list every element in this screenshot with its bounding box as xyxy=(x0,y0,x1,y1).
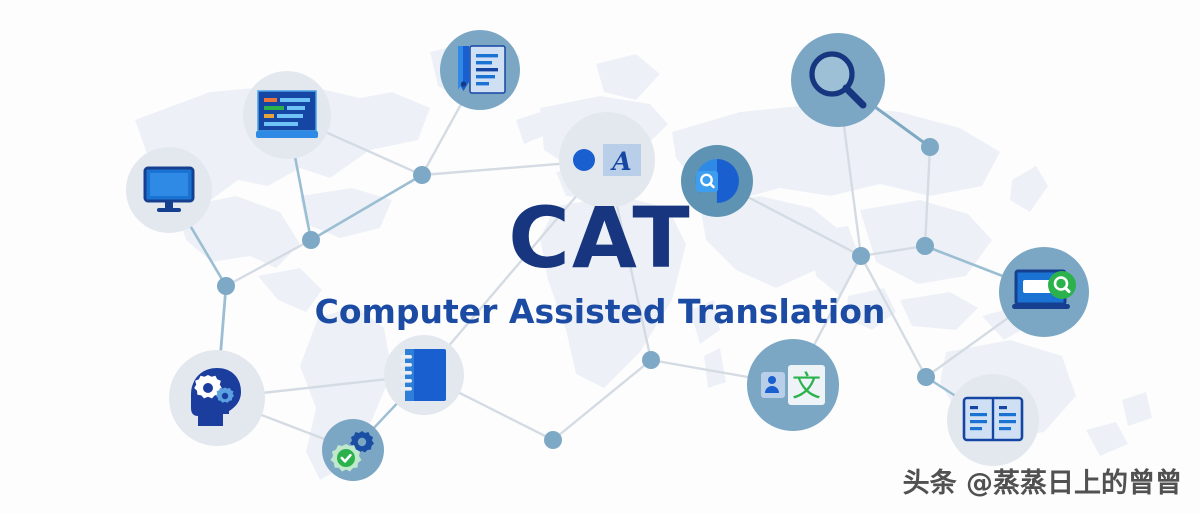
code-window-glyph xyxy=(256,89,318,141)
gears-check-glyph xyxy=(327,424,379,476)
network-node xyxy=(413,166,431,184)
monitor-icon[interactable] xyxy=(126,147,212,233)
magnifier-icon[interactable] xyxy=(791,33,885,127)
network-node xyxy=(921,138,939,156)
laptop-search-icon[interactable] xyxy=(999,247,1089,337)
network-node xyxy=(642,351,660,369)
network-node xyxy=(916,237,934,255)
svg-text:文: 文 xyxy=(792,369,821,403)
brain-gears-icon[interactable] xyxy=(169,350,265,446)
notebook-glyph xyxy=(399,347,449,403)
network-node xyxy=(917,368,935,386)
notebook-icon[interactable] xyxy=(384,335,464,415)
translate-glyph: 文 xyxy=(759,363,827,407)
monitor-glyph xyxy=(141,164,197,216)
document-pen-glyph xyxy=(452,43,508,97)
watermark-text: 头条 @蒸蒸日上的曾曾 xyxy=(903,461,1182,500)
code-window-icon[interactable] xyxy=(243,71,331,159)
open-book-icon[interactable] xyxy=(947,374,1039,466)
network-node xyxy=(217,277,235,295)
text-select-a-icon[interactable]: A xyxy=(559,112,655,208)
brain-gears-glyph xyxy=(183,364,251,432)
network-node xyxy=(544,431,562,449)
magnifier-glyph xyxy=(805,47,871,113)
network-node xyxy=(302,231,320,249)
document-pen-icon[interactable] xyxy=(440,30,520,110)
open-book-glyph xyxy=(961,395,1025,445)
pie-search-glyph xyxy=(691,155,743,207)
translate-icon[interactable]: 文 xyxy=(747,339,839,431)
cat-infographic-banner: A xyxy=(0,0,1200,514)
text-select-a-glyph: A xyxy=(571,143,643,177)
network-node xyxy=(852,247,870,265)
pie-search-icon[interactable] xyxy=(681,145,753,217)
laptop-search-glyph xyxy=(1010,266,1078,318)
svg-text:A: A xyxy=(610,147,631,176)
gears-check-icon[interactable] xyxy=(322,419,384,481)
